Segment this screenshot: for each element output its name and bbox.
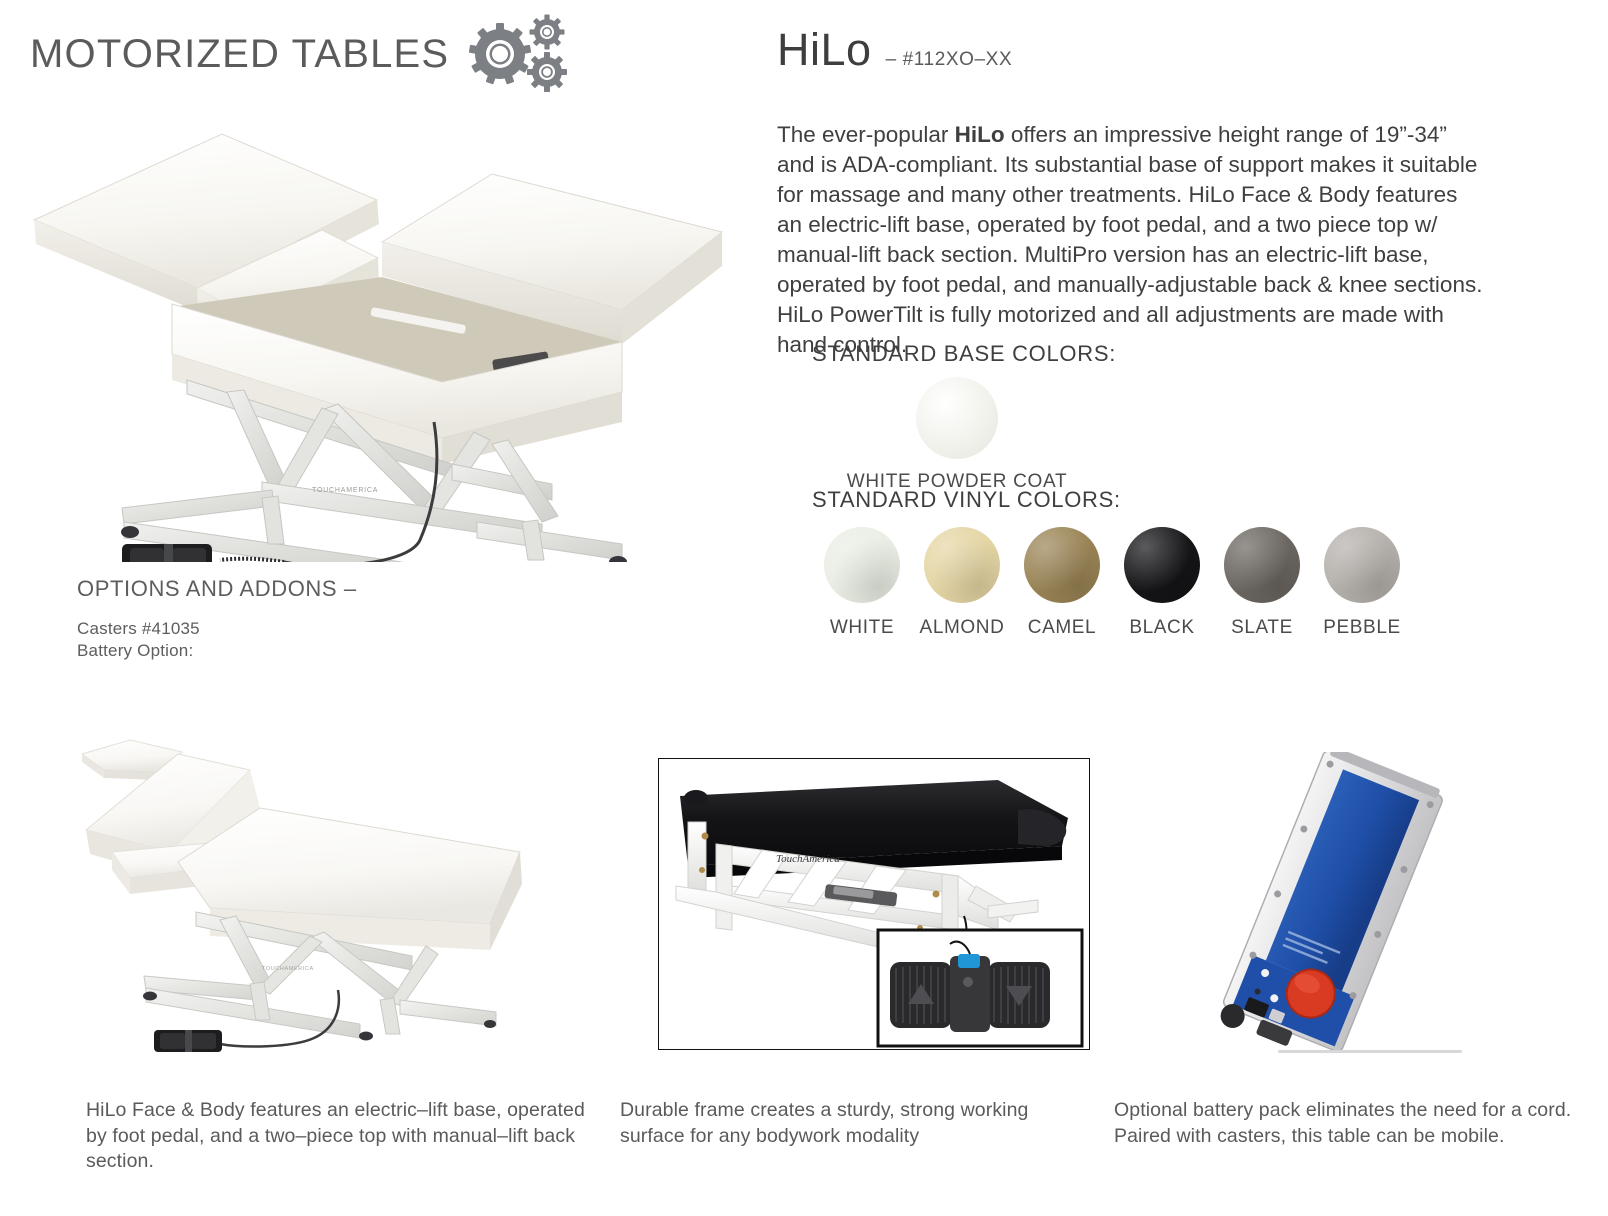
options-heading: OPTIONS AND ADDONS – bbox=[77, 576, 597, 602]
base-color-swatch-white-powder-coat[interactable]: WHITE POWDER COAT bbox=[832, 377, 1082, 493]
foot-pedal-inset-photo bbox=[878, 930, 1082, 1046]
vinyl-color-swatch-almond[interactable]: ALMOND bbox=[912, 527, 1012, 639]
option-casters: Casters #41035 bbox=[77, 618, 597, 640]
product-model-number: – #112XO–XX bbox=[886, 49, 1013, 71]
vinyl-swatch-row: WHITE ALMOND CAMEL BLACK SLATE PEBBLE bbox=[812, 527, 1452, 639]
vinyl-swatch-label: SLATE bbox=[1231, 617, 1293, 639]
hilo-table-hero-photo: TOUCHAMERICA bbox=[22, 92, 742, 562]
standard-base-colors-section: STANDARD BASE COLORS: WHITE POWDER COAT bbox=[812, 341, 1452, 493]
page-title: MOTORIZED TABLES bbox=[30, 32, 449, 77]
foot-pedal-illustration bbox=[154, 1030, 222, 1052]
options-and-addons-block: OPTIONS AND ADDONS – Casters #41035 Batt… bbox=[77, 576, 597, 662]
product-headline: HiLo – #112XO–XX bbox=[777, 24, 1012, 76]
brand-mark: TouchAmerica bbox=[776, 853, 840, 865]
vinyl-swatch-chip bbox=[824, 527, 900, 603]
vinyl-colors-heading: STANDARD VINYL COLORS: bbox=[812, 487, 1452, 513]
vinyl-swatch-chip bbox=[1324, 527, 1400, 603]
caption-battery-pack: Optional battery pack eliminates the nee… bbox=[1114, 1098, 1584, 1149]
vinyl-swatch-chip bbox=[1124, 527, 1200, 603]
base-swatch-chip bbox=[916, 377, 998, 459]
vinyl-color-swatch-camel[interactable]: CAMEL bbox=[1012, 527, 1112, 639]
vinyl-swatch-label: ALMOND bbox=[920, 617, 1005, 639]
vinyl-swatch-label: WHITE bbox=[830, 617, 894, 639]
vinyl-color-swatch-slate[interactable]: SLATE bbox=[1212, 527, 1312, 639]
standard-vinyl-colors-section: STANDARD VINYL COLORS: WHITE ALMOND CAME… bbox=[812, 487, 1452, 639]
description-part2: offers an impressive height range of 19”… bbox=[777, 122, 1482, 358]
vinyl-swatch-chip bbox=[924, 527, 1000, 603]
vinyl-swatch-label: CAMEL bbox=[1028, 617, 1096, 639]
product-name: HiLo bbox=[777, 24, 872, 76]
caption-durable-frame: Durable frame creates a sturdy, strong w… bbox=[620, 1098, 1090, 1149]
vinyl-swatch-label: BLACK bbox=[1129, 617, 1194, 639]
vinyl-swatch-chip bbox=[1024, 527, 1100, 603]
hilo-face-body-table-photo: TOUCHAMERICA bbox=[60, 712, 580, 1062]
option-battery: Battery Option: bbox=[77, 640, 597, 662]
gears-icon bbox=[467, 14, 572, 94]
battery-pack-photo bbox=[1150, 752, 1550, 1062]
base-colors-heading: STANDARD BASE COLORS: bbox=[812, 341, 1452, 367]
page-header: MOTORIZED TABLES bbox=[30, 14, 572, 94]
foot-pedal-illustration bbox=[122, 544, 212, 562]
vinyl-swatch-label: PEBBLE bbox=[1323, 617, 1401, 639]
description-part1: The ever-popular bbox=[777, 122, 955, 147]
caption-hilo-face-body: HiLo Face & Body features an electric–li… bbox=[86, 1098, 586, 1175]
vinyl-swatch-chip bbox=[1224, 527, 1300, 603]
description-product-emphasis: HiLo bbox=[955, 122, 1005, 147]
product-description: The ever-popular HiLo offers an impressi… bbox=[777, 120, 1483, 361]
durable-frame-detail-photo: TouchAmerica bbox=[658, 758, 1090, 1050]
brand-mark: TOUCHAMERICA bbox=[312, 487, 378, 494]
vinyl-color-swatch-black[interactable]: BLACK bbox=[1112, 527, 1212, 639]
brand-mark: TOUCHAMERICA bbox=[262, 966, 314, 972]
vinyl-color-swatch-pebble[interactable]: PEBBLE bbox=[1312, 527, 1412, 639]
vinyl-color-swatch-white[interactable]: WHITE bbox=[812, 527, 912, 639]
